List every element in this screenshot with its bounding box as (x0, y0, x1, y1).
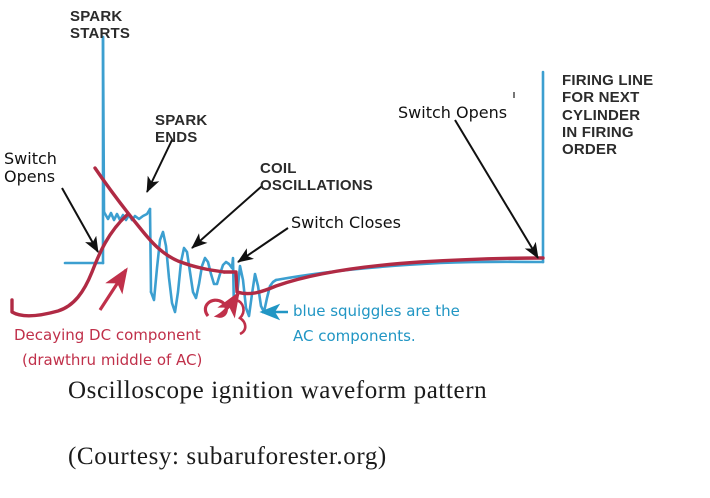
arrow-switch-opens-left (62, 188, 98, 252)
annotation-blue-squiggles-line2: AC components. (293, 328, 416, 345)
label-firing-line: FIRING LINE FOR NEXT CYLINDER IN FIRING … (562, 72, 653, 158)
arrow-coil-oscillations (192, 186, 262, 248)
figure-canvas: SPARK STARTS SPARK ENDS COIL OSCILLATION… (0, 0, 710, 498)
trace-firing-drop (103, 37, 104, 212)
dc-label-brace (236, 300, 245, 334)
annotation-switch-opens-left: Switch Opens (4, 150, 57, 187)
dc-pointer-arrow (100, 270, 126, 310)
arrow-spark-ends (147, 140, 172, 192)
label-coil-oscillations: COIL OSCILLATIONS (260, 160, 373, 195)
trace-dwell-oscillations (234, 266, 276, 316)
annotation-switch-closes: Switch Closes (291, 214, 401, 232)
label-spark-ends: SPARK ENDS (155, 112, 207, 147)
annotation-blue-squiggles-line1: blue squiggles are the (293, 303, 460, 320)
trace-dwell-baseline (276, 262, 543, 280)
arrow-switch-closes (238, 228, 288, 262)
trace-spark-ends-step (150, 209, 151, 292)
caption-courtesy: (Courtesy: subaruforester.org) (68, 443, 387, 472)
annotation-switch-opens-right: Switch Opens (398, 104, 507, 122)
dc-curve-dwell (224, 258, 543, 294)
caption-title: Oscilloscope ignition waveform pattern (68, 377, 487, 406)
arrow-switch-opens-right (455, 120, 538, 258)
label-spark-starts: SPARK STARTS (70, 8, 130, 43)
dc-curve-path (12, 214, 128, 316)
annotation-decaying-dc-line1: Decaying DC component (14, 327, 201, 344)
annotation-decaying-dc-line2: (drawthru middle of AC) (22, 352, 202, 369)
